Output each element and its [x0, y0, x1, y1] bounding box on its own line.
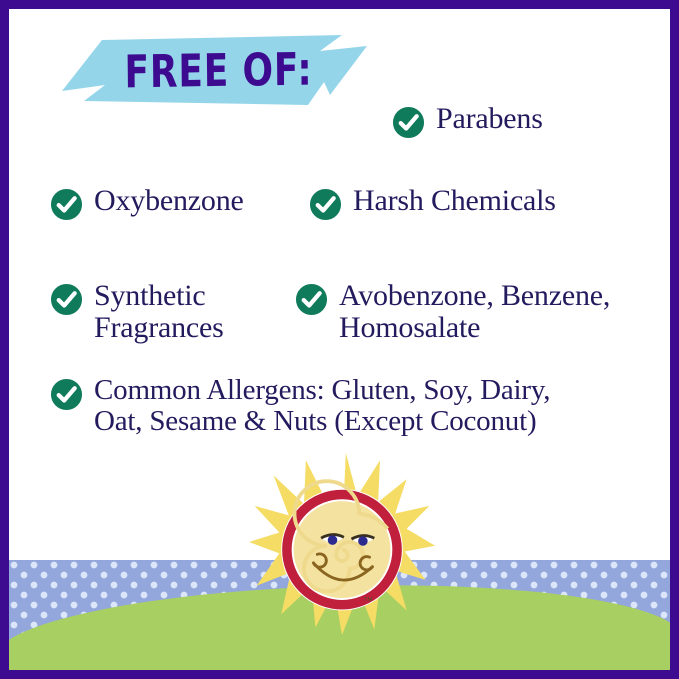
list-item-avobenzone-benzene-homosalate: Avobenzone, Benzene, Homosalate — [295, 280, 610, 345]
check-circle-icon — [295, 283, 328, 316]
list-item-synthetic-fragrances: Synthetic Fragrances — [50, 280, 224, 345]
check-circle-icon — [392, 106, 425, 139]
list-item-harsh-chemicals: Harsh Chemicals — [309, 185, 556, 221]
check-circle-icon — [50, 188, 83, 221]
banner-title: FREE OF: — [92, 33, 337, 107]
list-item-oxybenzone: Oxybenzone — [50, 185, 244, 221]
list-item-label: Synthetic Fragrances — [94, 280, 224, 345]
check-circle-icon — [50, 378, 83, 411]
free-of-poster: FREE OF: Parabens Oxybenzone Harsh Chemi… — [0, 0, 679, 679]
free-of-banner: FREE OF: — [62, 35, 367, 105]
smiling-sun-logo — [247, 447, 437, 637]
check-circle-icon — [50, 283, 83, 316]
list-item-label: Oxybenzone — [94, 185, 244, 217]
list-item-parabens: Parabens — [392, 103, 543, 139]
list-item-common-allergens: Common Allergens: Gluten, Soy, Dairy, Oa… — [50, 375, 550, 438]
trademark-symbol: ™ — [363, 596, 373, 607]
list-item-label: Parabens — [436, 103, 543, 135]
list-item-label: Common Allergens: Gluten, Soy, Dairy, Oa… — [94, 375, 550, 438]
list-item-label: Harsh Chemicals — [353, 185, 556, 217]
list-item-label: Avobenzone, Benzene, Homosalate — [339, 280, 610, 345]
check-circle-icon — [309, 188, 342, 221]
